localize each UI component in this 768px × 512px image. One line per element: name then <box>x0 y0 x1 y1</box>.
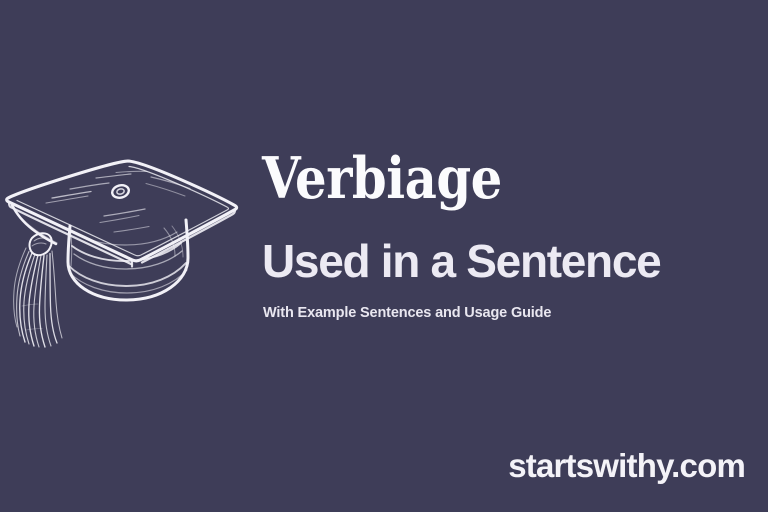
title-card: Verbiage Used in a Sentence With Example… <box>0 0 768 512</box>
graduation-cap-icon <box>0 142 246 367</box>
headline-phrase: Used in a Sentence <box>262 238 660 284</box>
brand-wordmark: startswithy.com <box>508 449 745 482</box>
headline-block: Verbiage Used in a Sentence With Example… <box>262 150 762 207</box>
page-title: Verbiage <box>262 150 747 207</box>
headline-subtitle: With Example Sentences and Usage Guide <box>263 305 551 322</box>
